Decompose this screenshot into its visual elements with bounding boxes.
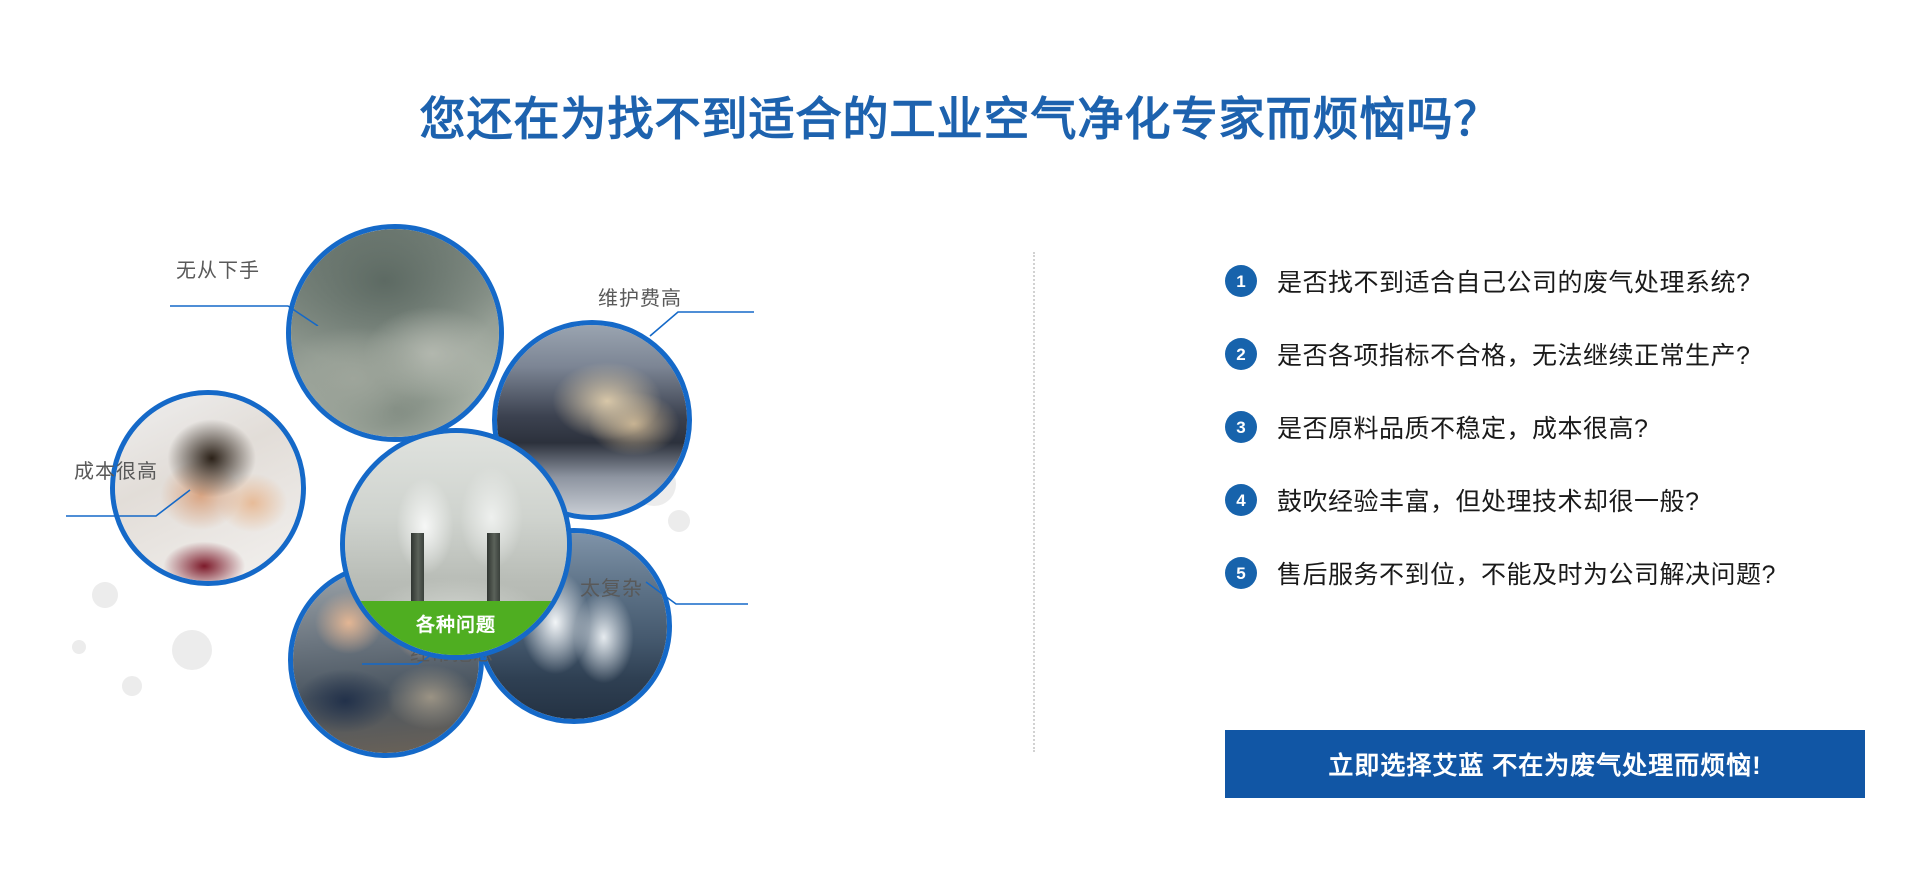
list-item-text: 售后服务不到位，不能及时为公司解决问题? xyxy=(1277,555,1776,591)
decor-dot xyxy=(668,510,690,532)
list-number-badge: 1 xyxy=(1225,265,1257,297)
decor-dot xyxy=(172,630,212,670)
list-item-text: 是否原料品质不稳定，成本很高? xyxy=(1277,409,1648,445)
bubble-smoke-dark xyxy=(286,224,504,442)
section-divider xyxy=(1033,252,1035,752)
center-label-band: 各种问题 xyxy=(345,601,567,655)
list-number-badge: 5 xyxy=(1225,557,1257,589)
page-root: 您还在为找不到适合的工业空气净化专家而烦恼吗？ xyxy=(0,0,1920,875)
decor-dot xyxy=(122,676,142,696)
list-number-badge: 3 xyxy=(1225,411,1257,443)
list-item-text: 鼓吹经验丰富，但处理技术却很一般? xyxy=(1277,482,1699,518)
leader-line-left xyxy=(64,480,204,528)
list-item: 5 售后服务不到位，不能及时为公司解决问题? xyxy=(1225,555,1905,591)
callout-label-right-lower: 太复杂 xyxy=(580,572,643,601)
leader-line-top xyxy=(168,280,328,326)
leader-line-right-upper xyxy=(636,306,756,350)
decor-dot xyxy=(92,582,118,608)
callout-label-left: 成本很高 xyxy=(74,455,158,484)
problem-diagram: 各种问题 无从下手 维护费高 成本很高 太复杂 经常抱怨 xyxy=(40,210,900,830)
callout-label-right-upper: 维护费高 xyxy=(598,282,682,311)
photo-smoke-dark xyxy=(291,229,499,437)
list-item-text: 是否各项指标不合格，无法继续正常生产? xyxy=(1277,336,1750,372)
list-item-text: 是否找不到适合自己公司的废气处理系统? xyxy=(1277,263,1750,299)
callout-label-top: 无从下手 xyxy=(176,254,260,283)
cta-button[interactable]: 立即选择艾蓝 不在为废气处理而烦恼! xyxy=(1225,730,1865,798)
list-item: 4 鼓吹经验丰富，但处理技术却很一般? xyxy=(1225,482,1905,518)
center-label-text: 各种问题 xyxy=(416,616,496,635)
list-number-badge: 4 xyxy=(1225,484,1257,516)
list-item: 1 是否找不到适合自己公司的废气处理系统? xyxy=(1225,263,1905,299)
list-item: 3 是否原料品质不稳定，成本很高? xyxy=(1225,409,1905,445)
page-title: 您还在为找不到适合的工业空气净化专家而烦恼吗？ xyxy=(0,92,1920,147)
decor-dot xyxy=(72,640,86,654)
list-item: 2 是否各项指标不合格，无法继续正常生产? xyxy=(1225,336,1905,372)
list-number-badge: 2 xyxy=(1225,338,1257,370)
question-list: 1 是否找不到适合自己公司的废气处理系统? 2 是否各项指标不合格，无法继续正常… xyxy=(1225,263,1905,628)
bubble-center-problems: 各种问题 xyxy=(340,428,572,660)
